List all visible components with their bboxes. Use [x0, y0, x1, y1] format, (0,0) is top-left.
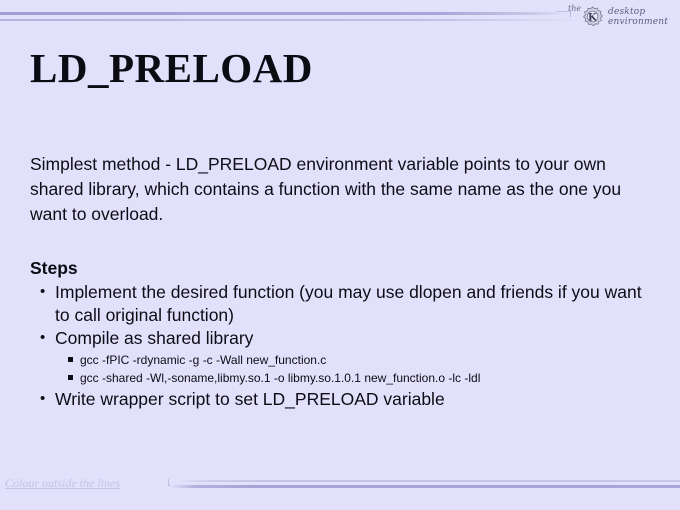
bullet-square-icon — [68, 357, 73, 362]
intro-paragraph: Simplest method - LD_PRELOAD environment… — [30, 152, 650, 227]
list-item: • Compile as shared library gcc -fPIC -r… — [38, 327, 655, 387]
list-item-label: Write wrapper script to set LD_PRELOAD v… — [55, 388, 655, 411]
list-item: gcc -fPIC -rdynamic -g -c -Wall new_func… — [67, 351, 655, 369]
header-divider-top — [0, 12, 566, 15]
footer-note: Colour outside the lines — [5, 476, 120, 491]
bullet-dot-icon: • — [40, 387, 45, 410]
slide-header: the K desktop environment — [0, 0, 680, 46]
kde-logo: the K desktop environment — [564, 2, 672, 36]
page-title: LD_PRELOAD — [30, 44, 313, 92]
kde-gear-k-logo-icon: K — [580, 5, 605, 30]
footer-divider-bottom — [170, 485, 680, 488]
bullet-dot-icon: • — [40, 326, 45, 349]
slide-body: Simplest method - LD_PRELOAD environment… — [30, 152, 655, 411]
steps-list: • Implement the desired function (you ma… — [30, 281, 655, 411]
logo-wordmark: desktop environment — [608, 7, 668, 27]
logo-environment-text: environment — [608, 17, 668, 27]
bullet-square-icon — [68, 375, 73, 380]
command-sublist: gcc -fPIC -rdynamic -g -c -Wall new_func… — [55, 351, 655, 387]
svg-text:K: K — [588, 12, 597, 23]
steps-heading: Steps — [30, 258, 655, 279]
list-item: • Write wrapper script to set LD_PRELOAD… — [38, 388, 655, 411]
header-divider-bottom — [0, 19, 580, 21]
footer-divider-top — [178, 480, 680, 482]
list-item-label: Implement the desired function (you may … — [55, 281, 655, 327]
list-item: • Implement the desired function (you ma… — [38, 281, 655, 327]
list-item-label: Compile as shared library — [55, 327, 655, 350]
command-text: gcc -fPIC -rdynamic -g -c -Wall new_func… — [80, 353, 326, 367]
bullet-dot-icon: • — [40, 280, 45, 303]
list-item: gcc -shared -Wl,-soname,libmy.so.1 -o li… — [67, 369, 655, 387]
command-text: gcc -shared -Wl,-soname,libmy.so.1 -o li… — [80, 371, 480, 385]
slide-footer: Colour outside the lines — [0, 474, 680, 498]
logo-desktop-text: desktop — [608, 7, 668, 17]
